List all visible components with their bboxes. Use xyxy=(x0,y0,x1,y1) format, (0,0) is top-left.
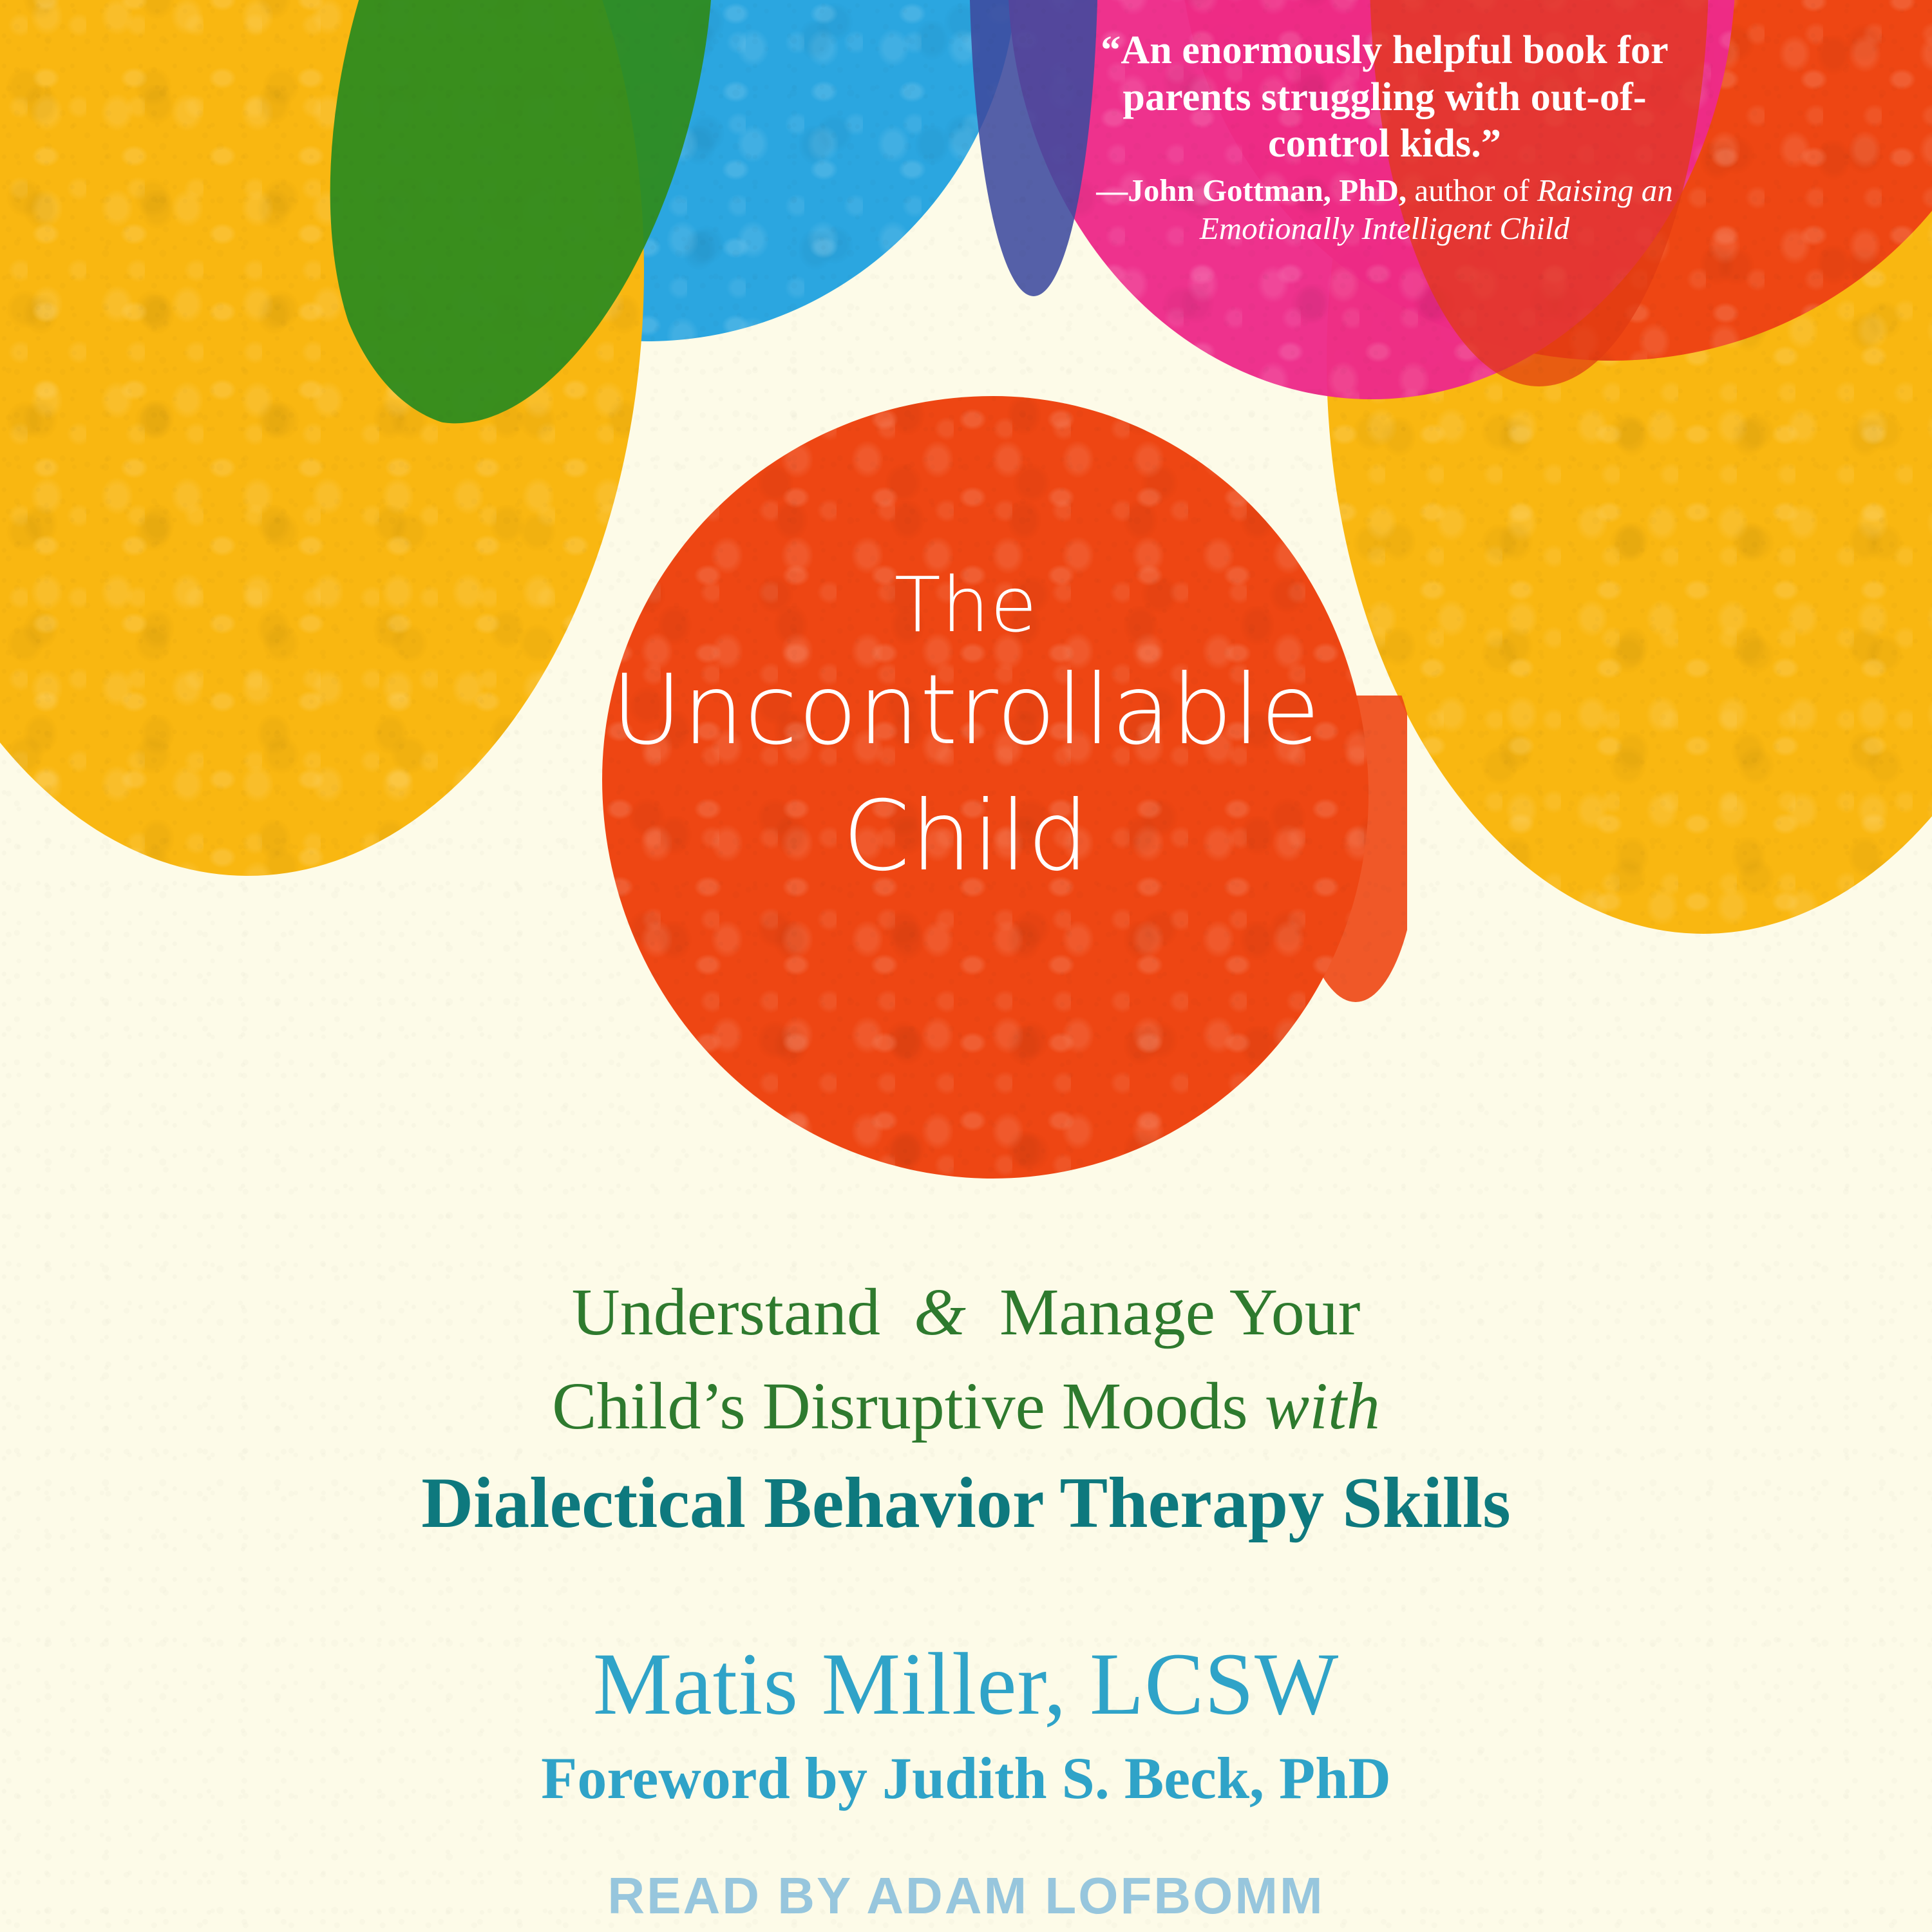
subtitle-line-3: Dialectical Behavior Therapy Skills xyxy=(0,1453,1932,1554)
subtitle-understand: Understand xyxy=(572,1275,880,1349)
foreword-credit: Foreword by Judith S. Beck, PhD xyxy=(0,1746,1932,1811)
subtitle-ampersand: & xyxy=(914,1275,966,1349)
narrator-credit: READ BY ADAM LOFBOMM xyxy=(0,1866,1932,1926)
blurb-attribution-dash: — xyxy=(1096,173,1128,208)
book-cover: “An enormously helpful book for parents … xyxy=(0,0,1932,1932)
byline-block: Matis Miller, LCSW Foreword by Judith S.… xyxy=(0,1636,1932,1926)
subtitle-block: Understand & Manage Your Child’s Disrupt… xyxy=(0,1265,1932,1554)
title-line-uncontrollable: Uncontrollable xyxy=(0,662,1932,759)
subtitle-line-1: Understand & Manage Your xyxy=(0,1265,1932,1359)
page-title: The Uncontrollable Child xyxy=(0,567,1932,885)
blurb-attribution-name: John Gottman, PhD, xyxy=(1128,173,1406,208)
subtitle-disruptive-moods: Child’s Disruptive Moods xyxy=(552,1369,1248,1443)
author-name: Matis Miller, LCSW xyxy=(0,1636,1932,1732)
blurb-quote-text: “An enormously helpful book for parents … xyxy=(1101,28,1669,166)
blurb-attribution-role: author of xyxy=(1406,173,1537,208)
title-line-the: The xyxy=(0,567,1932,643)
subtitle-line-2: Child’s Disruptive Moods with xyxy=(0,1359,1932,1454)
subtitle-manage-your: Manage Your xyxy=(999,1275,1360,1349)
title-line-child: Child xyxy=(0,788,1932,885)
endorsement-blurb: “An enormously helpful book for parents … xyxy=(1069,27,1700,248)
blurb-attribution: —John Gottman, PhD, author of Raising an… xyxy=(1069,171,1700,249)
subtitle-with: with xyxy=(1265,1369,1380,1443)
